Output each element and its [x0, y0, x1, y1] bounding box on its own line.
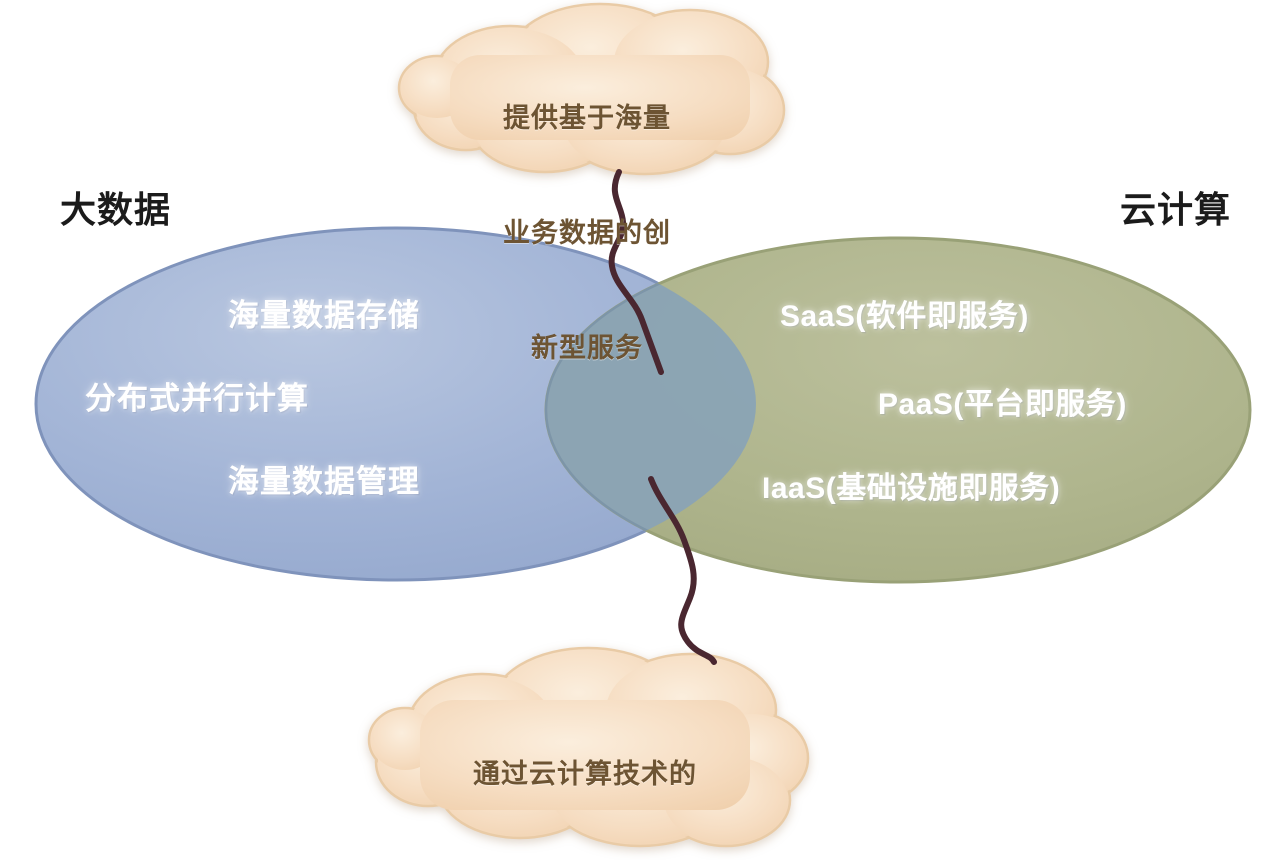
cloud-top-line-2: 业务数据的创	[452, 214, 722, 252]
cloud-bottom-line-1: 通过云计算技术的	[440, 755, 730, 793]
left-item-massive-data-management: 海量数据管理	[228, 466, 420, 497]
right-item-paas: PaaS(平台即服务)	[878, 390, 1127, 420]
right-item-saas: SaaS(软件即服务)	[780, 302, 1029, 332]
cloud-top-line-1: 提供基于海量	[452, 99, 722, 137]
cloud-callout-top-text: 提供基于海量 业务数据的创 新型服务	[452, 22, 722, 444]
diagram-canvas: 大数据 云计算 海量数据存储 分布式并行计算 海量数据管理 SaaS(软件即服务…	[0, 0, 1272, 860]
label-big-data: 大数据	[60, 192, 171, 228]
cloud-top-line-3: 新型服务	[452, 329, 722, 367]
right-item-iaas: IaaS(基础设施即服务)	[762, 474, 1060, 504]
label-cloud-computing: 云计算	[1120, 192, 1231, 228]
cloud-callout-bottom-text: 通过云计算技术的 不断发展降低大数 据业务的成本	[440, 678, 730, 860]
left-item-distributed-parallel-computing: 分布式并行计算	[85, 383, 309, 414]
left-item-massive-data-storage: 海量数据存储	[228, 300, 420, 331]
